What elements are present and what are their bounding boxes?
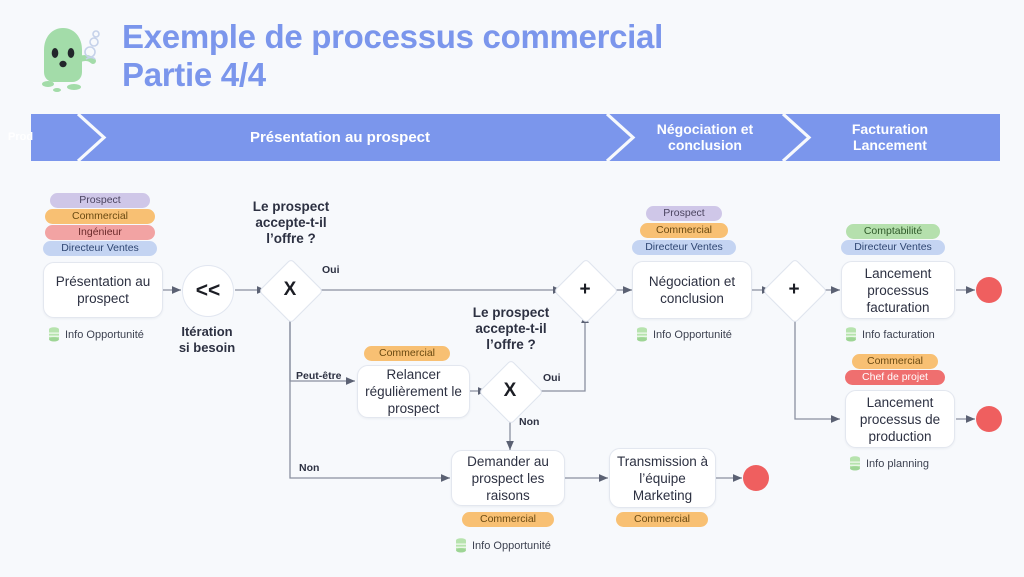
role-tag-commercial-production: Commercial — [852, 354, 938, 369]
end-event-production — [976, 406, 1002, 432]
database-icon — [455, 538, 467, 553]
question-gateway-1-line3: l’offre ? — [266, 231, 316, 246]
database-icon — [849, 456, 861, 471]
role-tag-directeur-facturation: Directeur Ventes — [841, 240, 945, 255]
role-tag-comptabilite: Comptabilité — [846, 224, 940, 239]
gateway-parallel-merge-symbol: + — [563, 268, 607, 312]
gateway-parallel-split-symbol: + — [772, 268, 816, 312]
role-tag-chef-de-projet: Chef de projet — [845, 370, 945, 385]
diagram-canvas: Exemple de processus commercial Partie 4… — [0, 0, 1024, 577]
question-gateway-1-line1: Le prospect — [253, 199, 330, 214]
role-tag-commercial-transmission: Commercial — [616, 512, 708, 527]
edge-label-non-2: Non — [519, 416, 539, 428]
role-tag-ingenieur: Ingénieur — [45, 225, 155, 240]
data-object-label: Info Opportunité — [65, 329, 144, 341]
gateway-exclusive-2-symbol: X — [488, 369, 532, 413]
role-tag-directeur-ventes: Directeur Ventes — [43, 241, 157, 256]
role-tag-commercial-relancer: Commercial — [364, 346, 450, 361]
database-icon — [845, 327, 857, 342]
data-object-label: Info facturation — [862, 329, 935, 341]
question-gateway-2-line1: Le prospect — [473, 305, 550, 320]
data-object-info-opportunite-1: Info Opportunité — [48, 327, 144, 342]
database-icon — [636, 327, 648, 342]
role-tag-directeur-negociation: Directeur Ventes — [632, 240, 736, 255]
end-event-marketing — [743, 465, 769, 491]
edge-label-peut-etre: Peut-être — [296, 370, 342, 382]
data-object-info-opportunite-2: Info Opportunité — [636, 327, 732, 342]
task-presentation-au-prospect[interactable]: Présentation au prospect — [43, 262, 163, 318]
role-tag-prospect: Prospect — [50, 193, 150, 208]
question-gateway-2-line3: l’offre ? — [486, 337, 536, 352]
task-transmission-equipe-marketing[interactable]: Transmission à l’équipe Marketing — [609, 448, 716, 508]
question-gateway-2-line2: accepte-t-il — [475, 321, 546, 336]
task-demander-au-prospect-les-raisons[interactable]: Demander au prospect les raisons — [451, 450, 565, 506]
caption-iteration-line2: si besoin — [179, 340, 235, 355]
role-tag-commercial: Commercial — [45, 209, 155, 224]
task-negociation-et-conclusion[interactable]: Négociation et conclusion — [632, 261, 752, 319]
task-lancement-processus-de-production[interactable]: Lancement processus de production — [845, 390, 955, 448]
question-gateway-1: Le prospect accepte-t-il l’offre ? — [232, 199, 350, 247]
task-lancement-processus-facturation[interactable]: Lancement processus facturation — [841, 261, 955, 319]
edge-label-oui-1: Oui — [322, 264, 340, 276]
role-tag-commercial-demander: Commercial — [462, 512, 554, 527]
data-object-label: Info planning — [866, 458, 929, 470]
task-relancer-regulierement-le-prospect[interactable]: Relancer régulièrement le prospect — [357, 365, 470, 418]
gateway-exclusive-1-symbol: X — [268, 268, 312, 312]
caption-iteration-line1: Itération — [181, 324, 232, 339]
edge-label-non-1: Non — [299, 462, 319, 474]
data-object-info-facturation: Info facturation — [845, 327, 935, 342]
end-event-facturation — [976, 277, 1002, 303]
event-iteration-loop[interactable]: << — [182, 265, 234, 317]
data-object-label: Info Opportunité — [472, 540, 551, 552]
role-tag-prospect-negociation: Prospect — [646, 206, 722, 221]
data-object-label: Info Opportunité — [653, 329, 732, 341]
question-gateway-2: Le prospect accepte-t-il l’offre ? — [452, 305, 570, 353]
caption-iteration: Itération si besoin — [166, 324, 248, 356]
data-object-info-opportunite-3: Info Opportunité — [455, 538, 551, 553]
role-tag-commercial-negociation: Commercial — [640, 223, 728, 238]
data-object-info-planning: Info planning — [849, 456, 929, 471]
question-gateway-1-line2: accepte-t-il — [255, 215, 326, 230]
edge-label-oui-2: Oui — [543, 372, 561, 384]
database-icon — [48, 327, 60, 342]
